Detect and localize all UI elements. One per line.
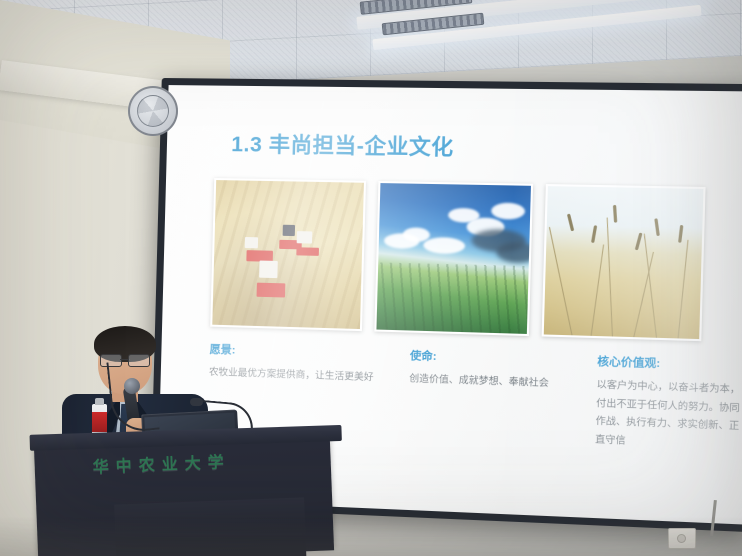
column-core-values: 核心价值观: 以客户为中心，以奋斗者为本，付出不亚于任何人的努力。协同作战、执行… [595, 353, 742, 455]
image-wheat-stalks-closeup [542, 184, 706, 341]
slide-title: 1.3 丰尚担当-企业文化 [231, 128, 454, 162]
image-blue-sky-over-green-farmland [374, 181, 534, 336]
column-core-values-body: 以客户为中心，以奋斗者为本，付出不亚于任何人的努力。协同作战、执行有力、求实创新… [595, 376, 742, 454]
column-mission-heading: 使命: [410, 347, 598, 369]
column-vision-body: 农牧业最优方案提供商，让生活更美好 [209, 364, 410, 388]
column-vision-heading: 愿景: [209, 341, 410, 363]
bottle-label [92, 412, 107, 432]
image-harvesters-in-wheat-field [210, 178, 366, 331]
field-furrows [376, 262, 529, 334]
lecture-hall-photo: 1.3 丰尚担当-企业文化 [0, 0, 742, 556]
column-mission: 使命: 创造价值、成就梦想、奉献社会 [408, 347, 598, 449]
slide-image-row [210, 178, 705, 341]
podium-institution-name: 华中农业大学 [92, 445, 323, 478]
floor-shadow [0, 516, 742, 556]
university-seal-icon [128, 86, 178, 136]
gooseneck-mic-capsule [190, 398, 203, 406]
bottle-cap [95, 398, 104, 405]
column-core-values-heading: 核心价值观: [597, 353, 742, 374]
column-mission-body: 创造价值、成就梦想、奉献社会 [409, 370, 597, 394]
